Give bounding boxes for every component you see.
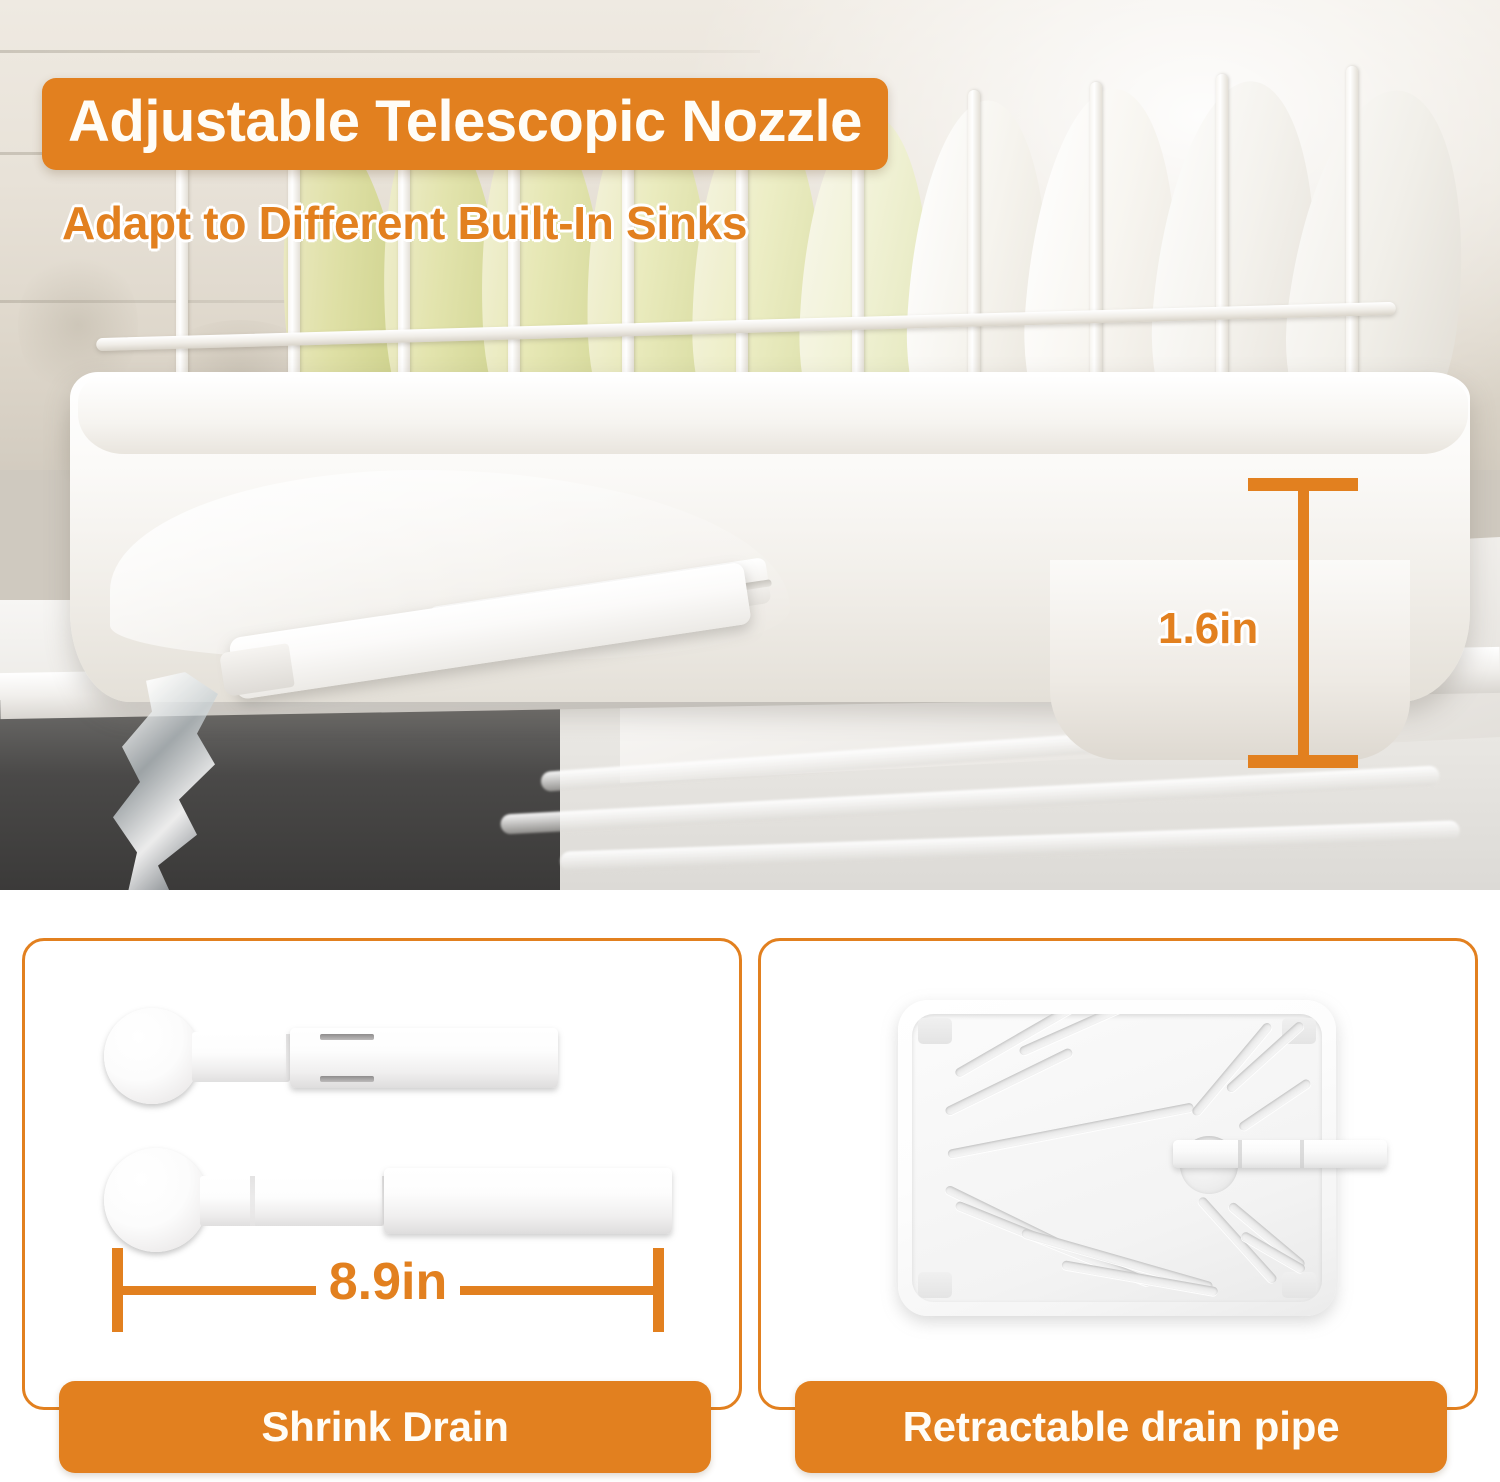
panel-label-text: Shrink Drain bbox=[261, 1403, 508, 1451]
tray-corner bbox=[1282, 1272, 1316, 1298]
drain-pipe-neck bbox=[192, 1032, 290, 1082]
panel-label-retractable-drain-pipe: Retractable drain pipe bbox=[795, 1381, 1447, 1473]
tray-spout-joint bbox=[1238, 1140, 1242, 1168]
sink-basin bbox=[0, 700, 560, 890]
drain-channel bbox=[944, 1047, 1074, 1116]
drain-pipe-disc bbox=[104, 1008, 200, 1104]
height-dimension-marker bbox=[1248, 478, 1358, 768]
panel-label-text: Retractable drain pipe bbox=[903, 1403, 1340, 1451]
drain-channel bbox=[1237, 1078, 1312, 1132]
dimension-stem bbox=[1298, 478, 1309, 768]
rack-wire-divider bbox=[176, 132, 188, 400]
tray-spout-joint bbox=[1300, 1140, 1304, 1168]
product-infographic: Adjustable Telescopic Nozzle Adapt to Di… bbox=[0, 0, 1500, 1482]
drain-basin-lip bbox=[78, 376, 1468, 454]
wall-plank-line bbox=[0, 50, 760, 53]
drain-pipe-slot bbox=[320, 1076, 374, 1082]
tray-corner bbox=[918, 1018, 952, 1044]
hero-title-badge: Adjustable Telescopic Nozzle bbox=[42, 78, 888, 170]
drain-channel bbox=[1191, 1021, 1274, 1117]
drain-pipe-slot bbox=[320, 1034, 374, 1040]
width-dimension-label: 8.9in bbox=[112, 1256, 664, 1308]
width-dimension-marker: 8.9in bbox=[112, 1248, 664, 1332]
height-dimension-label: 1.6in bbox=[1158, 604, 1258, 654]
rack-wire-divider bbox=[968, 90, 980, 400]
hero-subtitle: Adapt to Different Built-In Sinks bbox=[62, 196, 747, 250]
page-title: Adjustable Telescopic Nozzle bbox=[68, 92, 862, 152]
dimension-cap-bottom bbox=[1248, 755, 1358, 768]
drain-pipe-disc bbox=[104, 1148, 208, 1252]
drain-pipe-extended bbox=[104, 1148, 684, 1256]
rack-wire-divider bbox=[1346, 66, 1358, 412]
tray-corner bbox=[918, 1272, 952, 1298]
drain-pipe-neck bbox=[200, 1176, 384, 1226]
rack-wire-divider bbox=[1216, 74, 1228, 406]
panel-label-shrink-drain: Shrink Drain bbox=[59, 1381, 711, 1473]
rack-wire-divider bbox=[1090, 82, 1102, 402]
drain-pipe-retracted bbox=[104, 1008, 574, 1108]
drain-channel bbox=[947, 1102, 1194, 1159]
tray-drain-spout bbox=[1173, 1140, 1387, 1168]
hero-photo: Adjustable Telescopic Nozzle Adapt to Di… bbox=[0, 0, 1500, 890]
drain-pipe-joint bbox=[250, 1176, 255, 1226]
drain-pipe-tube bbox=[384, 1168, 672, 1234]
